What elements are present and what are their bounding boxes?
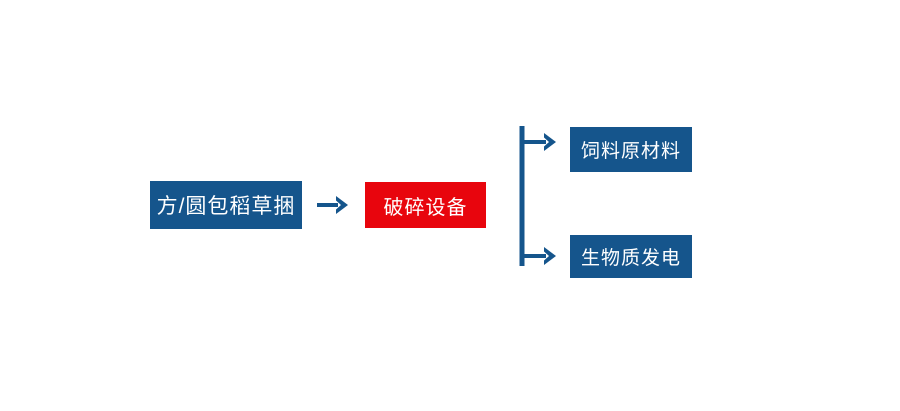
node-straw-bale: 方/圆包稻草捆	[150, 181, 302, 229]
node-straw-bale-label: 方/圆包稻草捆	[157, 190, 296, 220]
node-feed-material: 饲料原材料	[570, 127, 692, 172]
node-feed-material-label: 饲料原材料	[581, 136, 681, 163]
node-biomass-power: 生物质发电	[570, 235, 692, 278]
diagram-canvas: 方/圆包稻草捆 破碎设备 饲料原材料 生物质发电	[0, 0, 900, 411]
node-crusher: 破碎设备	[365, 182, 486, 228]
arrow-right-icon	[316, 192, 350, 218]
node-biomass-power-label: 生物质发电	[581, 243, 681, 270]
node-crusher-label: 破碎设备	[384, 191, 468, 220]
branch-arrows-icon	[516, 124, 564, 268]
